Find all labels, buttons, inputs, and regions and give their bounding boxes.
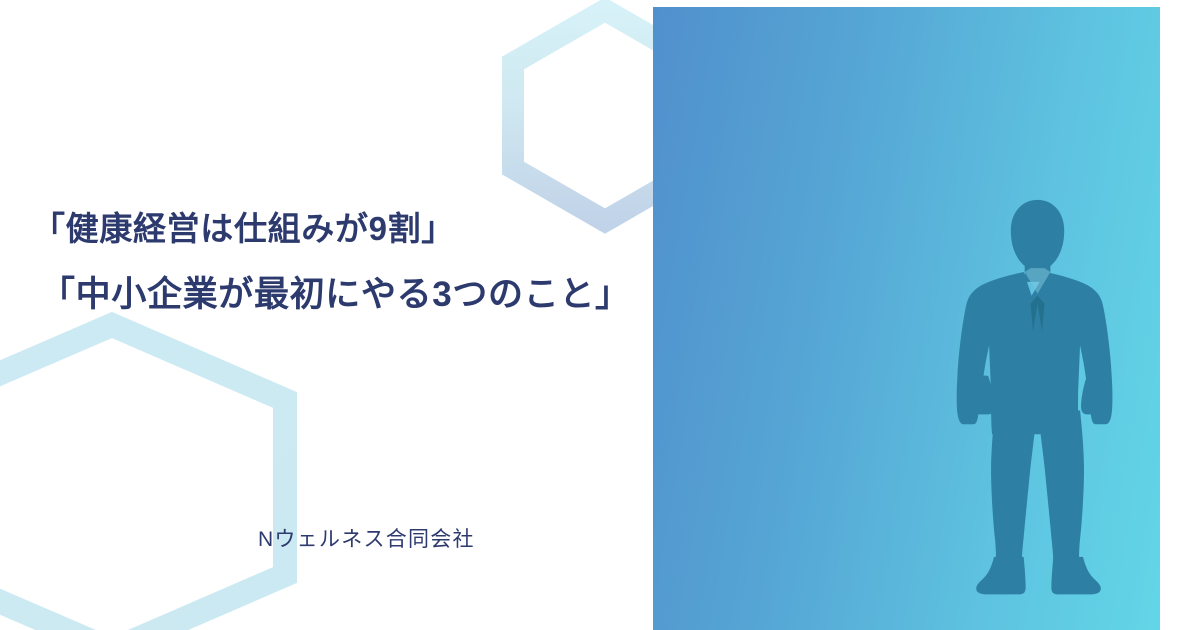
thumbnail-canvas: 「健康経営は仕組みが9割」 「中小企業が最初にやる3つのこと」 Nウェルネス合同… — [0, 0, 1200, 630]
headline-line-1: 「健康経営は仕組みが9割」 — [32, 212, 455, 245]
businessman-photo-panel — [653, 7, 1160, 630]
text-block: 「健康経営は仕組みが9割」 「中小企業が最初にやる3つのこと」 Nウェルネス合同… — [0, 0, 653, 630]
company-name: Nウェルネス合同会社 — [258, 523, 475, 553]
businessman-silhouette-icon — [889, 7, 1160, 630]
headline-line-2: 「中小企業が最初にやる3つのこと」 — [40, 277, 631, 312]
